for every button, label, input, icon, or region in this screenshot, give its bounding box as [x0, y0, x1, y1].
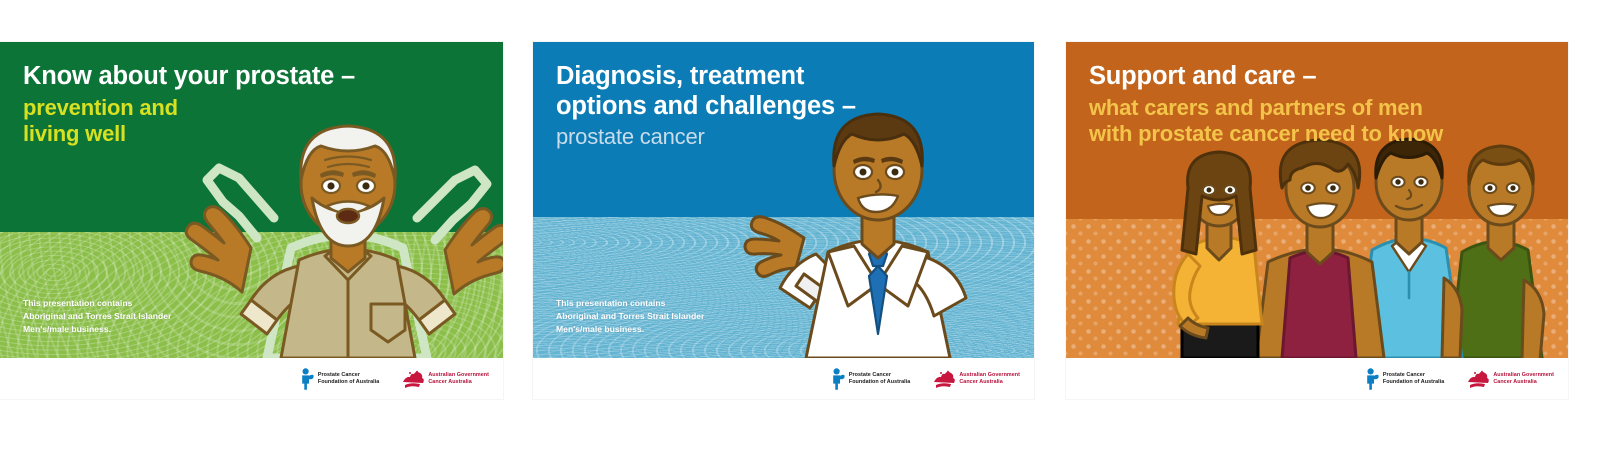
gov-logo-text: Australian Government Cancer Australia — [959, 372, 1020, 385]
four-aboriginal-people-illustration — [1144, 126, 1564, 358]
slide-3-pcfa-logo: Prostate Cancer Foundation of Australia — [1363, 368, 1444, 390]
slide-2-gov-logo: Australian Government Cancer Australia — [932, 369, 1020, 389]
slide-1-artwork: Know about your prostate – prevention an… — [0, 42, 503, 358]
pcfa-figure-icon — [1363, 368, 1379, 390]
slide-1-disclaimer: This presentation contains Aboriginal an… — [23, 297, 171, 336]
pcfa-logo-line-2: Foundation of Australia — [849, 379, 910, 385]
pcfa-logo-text: Prostate Cancer Foundation of Australia — [318, 372, 379, 385]
slide-1-subtitle: prevention and living well — [23, 95, 355, 149]
slide-2-footer: Prostate Cancer Foundation of Australia … — [533, 358, 1034, 399]
slide-2-disclaimer: This presentation contains Aboriginal an… — [556, 297, 704, 336]
australian-government-crest-icon — [401, 369, 424, 389]
australian-government-crest-icon — [1466, 369, 1489, 389]
slide-3-headline: Support and care – what carers and partn… — [1089, 62, 1443, 148]
slide-3-subtitle: what carers and partners of men with pro… — [1089, 95, 1443, 149]
pcfa-logo-text: Prostate Cancer Foundation of Australia — [849, 372, 910, 385]
pcfa-figure-icon — [829, 368, 845, 390]
slide-1-gov-logo: Australian Government Cancer Australia — [401, 369, 489, 389]
slide-2-artwork: Diagnosis, treatment options and challen… — [533, 42, 1034, 358]
slide-support-and-care[interactable]: Support and care – what carers and partn… — [1066, 42, 1568, 399]
gov-logo-line-2: Cancer Australia — [428, 379, 489, 385]
slide-2-headline: Diagnosis, treatment options and challen… — [556, 62, 856, 151]
slide-2-subtitle: prostate cancer — [556, 124, 856, 151]
slide-diagnosis-treatment-options[interactable]: Diagnosis, treatment options and challen… — [533, 42, 1034, 399]
slide-know-about-your-prostate[interactable]: Know about your prostate – prevention an… — [0, 42, 503, 399]
slide-3-footer: Prostate Cancer Foundation of Australia … — [1066, 358, 1568, 399]
gov-logo-line-2: Cancer Australia — [959, 379, 1020, 385]
slide-3-gov-logo: Australian Government Cancer Australia — [1466, 369, 1554, 389]
slide-2-pcfa-logo: Prostate Cancer Foundation of Australia — [829, 368, 910, 390]
slide-1-footer: Prostate Cancer Foundation of Australia … — [0, 358, 503, 399]
pcfa-logo-line-2: Foundation of Australia — [318, 379, 379, 385]
slide-3-artwork: Support and care – what carers and partn… — [1066, 42, 1568, 358]
gov-logo-line-2: Cancer Australia — [1493, 379, 1554, 385]
australian-government-crest-icon — [932, 369, 955, 389]
slide-1-headline: Know about your prostate – prevention an… — [23, 62, 355, 148]
gov-logo-text: Australian Government Cancer Australia — [428, 372, 489, 385]
pcfa-logo-text: Prostate Cancer Foundation of Australia — [1383, 372, 1444, 385]
slide-1-title: Know about your prostate – — [23, 62, 355, 92]
slide-1-pcfa-logo: Prostate Cancer Foundation of Australia — [298, 368, 379, 390]
gov-logo-text: Australian Government Cancer Australia — [1493, 372, 1554, 385]
pcfa-figure-icon — [298, 368, 314, 390]
slide-2-title: Diagnosis, treatment options and challen… — [556, 62, 856, 121]
slide-3-title: Support and care – — [1089, 62, 1443, 92]
pcfa-logo-line-2: Foundation of Australia — [1383, 379, 1444, 385]
slide-row-board: Know about your prostate – prevention an… — [0, 0, 1624, 461]
